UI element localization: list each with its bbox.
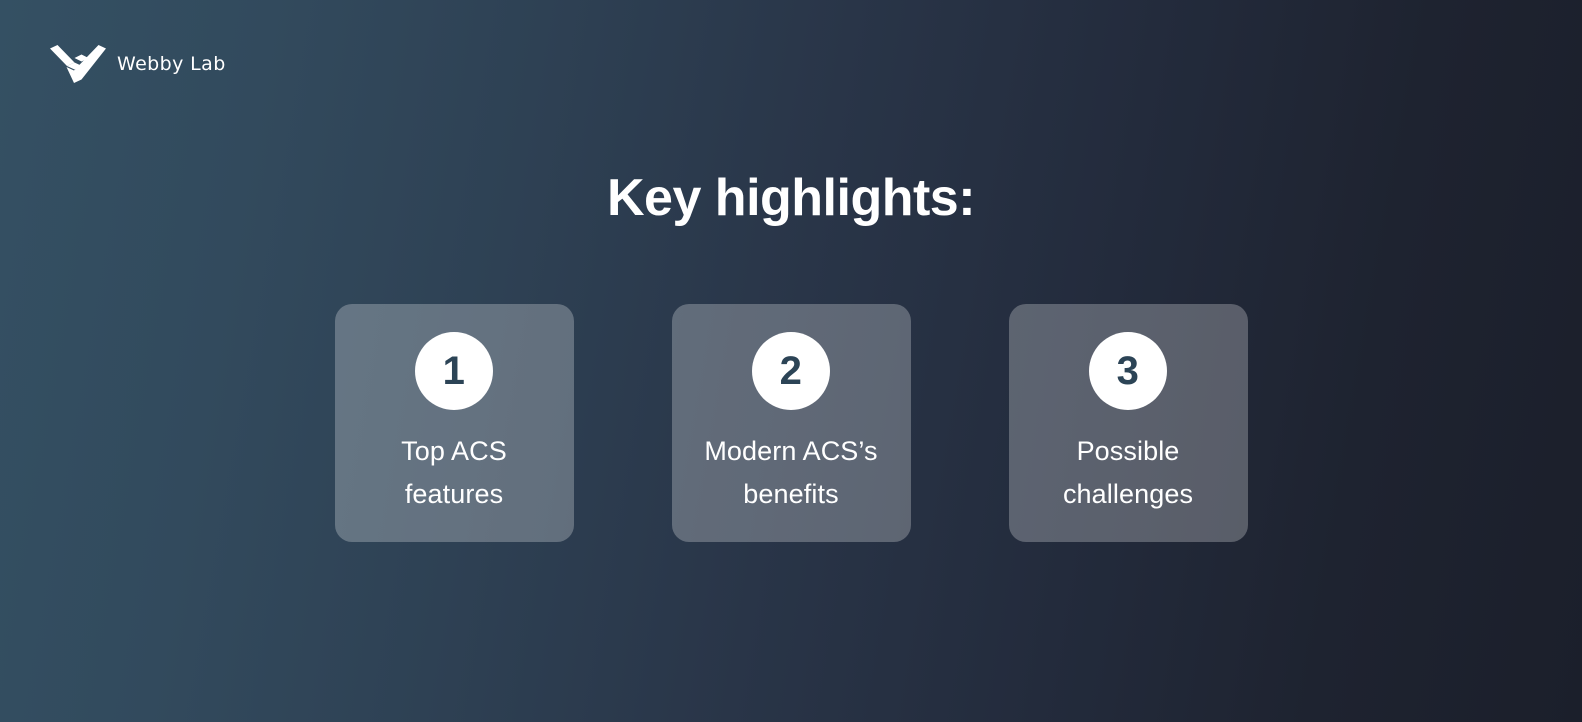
brand-name: Webby Lab [117, 55, 226, 74]
card-number: 3 [1117, 351, 1140, 391]
card-number-badge: 1 [415, 332, 493, 410]
card-number: 1 [443, 351, 466, 391]
card-label: Modern ACS’s benefits [698, 430, 883, 515]
slide-canvas: Webby Lab Key highlights: 1 Top ACS feat… [0, 0, 1582, 722]
highlight-card-2: 2 Modern ACS’s benefits [672, 304, 911, 542]
card-label: Possible challenges [1057, 430, 1199, 515]
card-number-badge: 3 [1089, 332, 1167, 410]
highlight-cards: 1 Top ACS features 2 Modern ACS’s benefi… [0, 304, 1582, 542]
brand-logo: Webby Lab [50, 44, 226, 84]
highlight-card-1: 1 Top ACS features [335, 304, 574, 542]
webbylab-chevron-w-logo-icon [50, 45, 106, 83]
card-label: Top ACS features [395, 430, 513, 515]
card-number: 2 [780, 351, 803, 391]
highlight-card-3: 3 Possible challenges [1009, 304, 1248, 542]
card-number-badge: 2 [752, 332, 830, 410]
page-title: Key highlights: [0, 170, 1582, 227]
